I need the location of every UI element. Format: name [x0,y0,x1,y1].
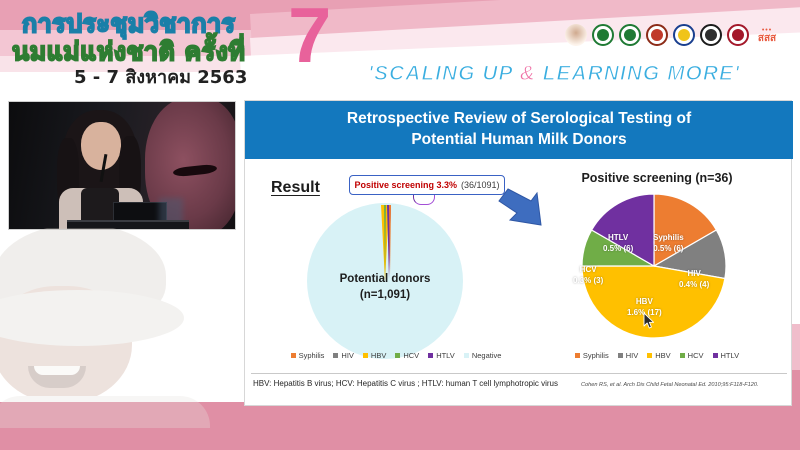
screenshot-root: การประชุมวิชาการ นมแม่แห่งชาติ ครั้งที่ … [0,0,800,450]
legend-potential-donors[interactable]: Syphilis HIV HBV HCV HTLV Negative [271,351,521,360]
legend-item-syphilis[interactable]: Syphilis [291,351,325,360]
pie-right-title: Positive screening (n=36) [541,171,773,185]
pie-left-syphilis-sliver [389,205,391,275]
slice-label-hbv-name: HBV [627,297,662,308]
legend-label-hbv-right: HBV [655,351,670,360]
slice-label-hiv-name: HIV [679,269,709,280]
conference-tagline: 'SCALING UP & LEARNING MORE' [368,62,740,86]
slice-label-hcv-name: HCV [573,265,603,276]
slice-label-syphilis: Syphilis 0.5% (6) [653,233,684,255]
conference-date: 5 - 7 สิงหาคม 2563 [74,62,247,91]
pie-left-hcv-sliver [384,205,386,277]
sponsor-logo-2-icon [592,24,614,46]
legend-label-syphilis: Syphilis [299,351,325,360]
pie-left-center-label: Potential donors (n=1,091) [285,271,485,303]
child-teeth [34,366,80,375]
positive-screening-callout: Positive screening 3.3% (36/1091) [349,175,505,195]
legend-item-hcv[interactable]: HCV [395,351,419,360]
legend-item-hbv-right[interactable]: HBV [647,351,670,360]
legend-item-hbv[interactable]: HBV [363,351,386,360]
background-child-photo [0,228,250,428]
result-heading: Result [271,179,320,197]
pie-left-label-line2: (n=1,091) [285,287,485,303]
slice-label-htlv-value: 0.5% (6) [603,244,633,255]
legend-item-hiv-right[interactable]: HIV [618,351,639,360]
child-hat-brim [0,290,184,346]
speaker-face [81,122,121,170]
tagline-ampersand: & [520,62,536,85]
child-shirt [0,396,210,428]
legend-label-htlv: HTLV [436,351,455,360]
speaker-video-feed[interactable] [8,101,236,230]
slice-label-hiv-value: 0.4% (4) [679,280,709,291]
tagline-part1: 'SCALING UP [368,62,520,85]
slide-title-line-1: Retrospective Review of Serological Test… [347,109,691,130]
legend-item-hiv[interactable]: HIV [333,351,354,360]
callout-detail-text: (36/1091) [461,180,500,190]
legend-positive-screening[interactable]: Syphilis HIV HBV HCV HTLV [541,351,773,360]
legend-item-hcv-right[interactable]: HCV [680,351,704,360]
slice-label-hiv: HIV 0.4% (4) [679,269,709,291]
pie-left-label-line1: Potential donors [285,271,485,287]
conference-edition-number: 7 [288,0,331,74]
legend-label-negative: Negative [472,351,502,360]
legend-label-hiv: HIV [341,351,354,360]
legend-label-syphilis-right: Syphilis [583,351,609,360]
sponsor-logo-5-icon [673,24,695,46]
sponsor-logo-6-icon [700,24,722,46]
pie-chart-potential-donors[interactable]: Potential donors (n=1,091) [285,197,485,367]
sponsor-logo-1-icon [565,24,587,46]
legend-item-negative[interactable]: Negative [464,351,502,360]
sponsor-logo-4-icon [646,24,668,46]
slide-title-bar: Retrospective Review of Serological Test… [245,101,793,159]
sss-logo-text: สสส [758,34,776,44]
tagline-part2: LEARNING MORE' [536,62,740,85]
reference-citation: Cohen RS, et al. Arch Dis Child Fetal Ne… [581,382,759,388]
sponsor-logo-strip: ••• สสส [565,24,780,46]
mouse-cursor-icon [643,312,655,330]
slice-label-hcv: HCV 0.3% (3) [573,265,603,287]
legend-label-hbv: HBV [371,351,386,360]
legend-label-hcv-right: HCV [688,351,704,360]
slice-label-syphilis-name: Syphilis [653,233,684,244]
sponsor-logo-7-icon [727,24,749,46]
slice-label-htlv-name: HTLV [603,233,633,244]
legend-item-htlv-right[interactable]: HTLV [713,351,740,360]
pie-chart-positive-screening[interactable]: Positive screening (n=36) Syphilis 0.5% … [541,171,773,367]
slice-label-hcv-value: 0.3% (3) [573,276,603,287]
sponsor-logo-sss-icon: ••• สสส [754,24,780,46]
legend-label-hcv: HCV [403,351,419,360]
footer-divider [251,373,787,374]
presentation-slide[interactable]: Retrospective Review of Serological Test… [244,100,792,406]
abbreviation-footnote: HBV: Hepatitis B virus; HCV: Hepatitis C… [253,379,558,388]
legend-item-syphilis-right[interactable]: Syphilis [575,351,609,360]
legend-item-htlv[interactable]: HTLV [428,351,455,360]
legend-label-hiv-right: HIV [626,351,639,360]
slice-label-syphilis-value: 0.5% (6) [653,244,684,255]
callout-highlight-text: Positive screening 3.3% [354,180,457,190]
blue-arrow-icon [497,187,543,231]
slice-label-htlv: HTLV 0.5% (6) [603,233,633,255]
slide-title-line-2: Potential Human Milk Donors [411,130,626,151]
legend-label-htlv-right: HTLV [721,351,740,360]
sponsor-logo-3-icon [619,24,641,46]
